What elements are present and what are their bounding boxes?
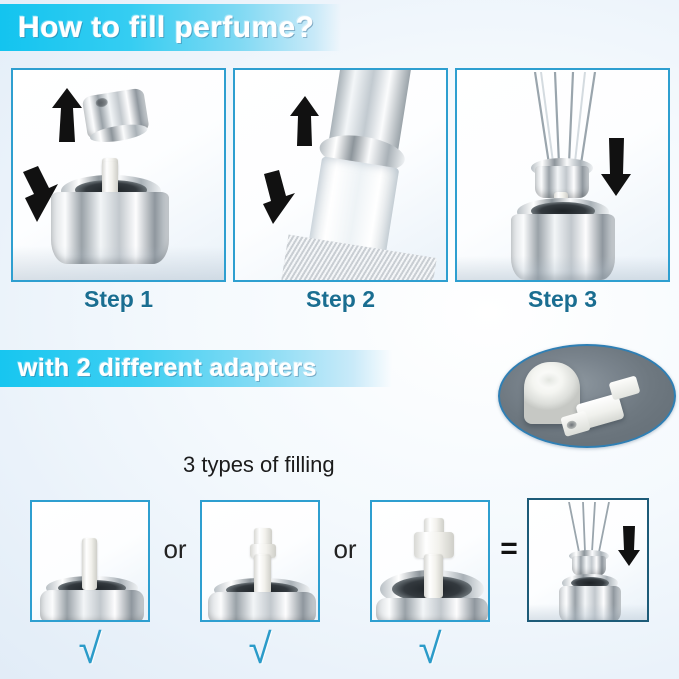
page-title: How to fill perfume?: [18, 11, 314, 45]
arrow-down-icon: [599, 136, 633, 198]
filling-result-photo: [527, 498, 649, 622]
arrow-down-icon: [261, 170, 303, 226]
connector-or-1: or: [158, 536, 192, 562]
chrome-base-body: [40, 590, 144, 622]
connector-equals: =: [494, 534, 524, 564]
step-1-caption: Step 1: [11, 286, 226, 313]
filling-type-2: [200, 500, 320, 622]
check-mark-2: √: [230, 628, 290, 670]
filling-type-1: [30, 500, 150, 622]
nozzle-front: [82, 540, 97, 590]
check-mark-1: √: [60, 628, 120, 670]
chrome-base-body: [208, 592, 316, 622]
glass-base-plate: [13, 246, 226, 282]
arrow-down-icon: [617, 524, 641, 568]
infographic-root: How to fill perfume?: [0, 0, 679, 679]
connector-or-2: or: [328, 536, 362, 562]
nozzle-front: [424, 556, 443, 598]
adapters-photo: [498, 344, 676, 448]
chrome-cap: [82, 87, 151, 144]
glass-base-plate: [529, 604, 649, 622]
step-1-photo: [11, 68, 226, 282]
step-3-photo: [455, 68, 670, 282]
sprayer-body: [572, 556, 606, 576]
adapters-banner: with 2 different adapters: [0, 350, 392, 387]
adapters-banner-label: with 2 different adapters: [18, 354, 317, 383]
glass-base-plate: [457, 256, 670, 282]
nozzle-front: [254, 556, 271, 594]
arrow-up-icon: [287, 94, 321, 148]
filling-type-3: [370, 500, 490, 622]
arrow-up-icon: [49, 86, 85, 144]
check-mark-3: √: [400, 628, 460, 670]
chrome-base-body: [376, 598, 488, 622]
filling-title: 3 types of filling: [183, 452, 335, 478]
step-2-photo: [233, 68, 448, 282]
step-2-caption: Step 2: [233, 286, 448, 313]
step-3-caption: Step 3: [455, 286, 670, 313]
header-banner: How to fill perfume?: [0, 4, 341, 51]
